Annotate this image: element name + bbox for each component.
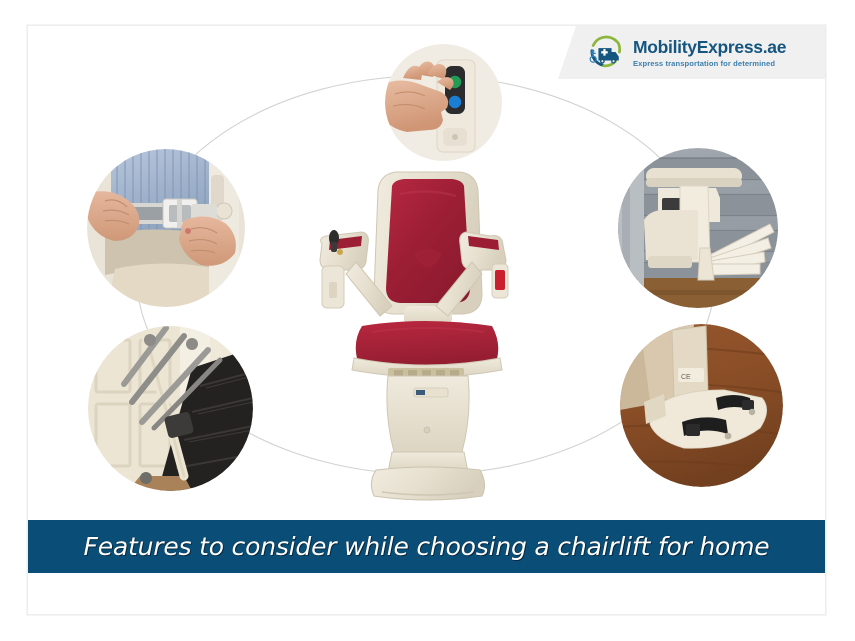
ambulance-wheelchair-icon	[584, 31, 626, 73]
folding-seat-photo	[618, 148, 778, 308]
infographic-card: MobilityExpress.ae Express transportatio…	[27, 25, 826, 615]
brand-banner: MobilityExpress.ae Express transportatio…	[558, 26, 825, 79]
brand-name: MobilityExpress.ae	[633, 38, 786, 56]
folding-rail-photo	[88, 326, 253, 491]
feature-circle-remote-control[interactable]	[385, 44, 502, 161]
feature-circle-folding-rail[interactable]	[88, 326, 253, 491]
center-chairlift-image	[296, 166, 559, 506]
feature-circle-footplate[interactable]: CE	[620, 324, 783, 487]
chair-pedestal	[387, 376, 469, 452]
feature-circle-folding-seat[interactable]	[618, 148, 778, 308]
svg-text:CE: CE	[681, 374, 691, 381]
remote-control-photo	[385, 44, 502, 161]
feature-circle-seat-belt[interactable]	[87, 149, 245, 307]
brand-tagline: Express transportation for determined	[633, 59, 786, 68]
caption-text: Features to consider while choosing a ch…	[84, 532, 770, 561]
chairlift-illustration	[296, 166, 559, 506]
caption-banner: Features to consider while choosing a ch…	[28, 520, 825, 573]
footplate-photo: CE	[620, 324, 783, 487]
seat-belt-photo	[87, 149, 245, 307]
